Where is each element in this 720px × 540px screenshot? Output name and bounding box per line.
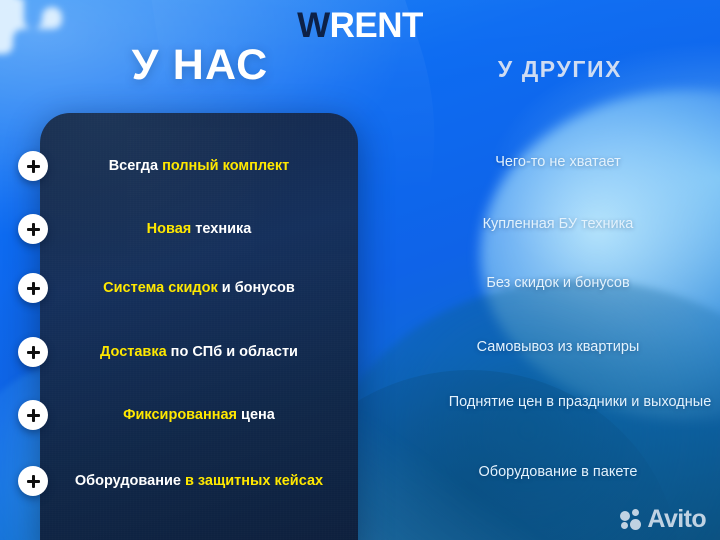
logo-letter-w: W xyxy=(297,6,330,45)
advantage-text: Новая техника xyxy=(68,220,330,239)
plus-icon[interactable] xyxy=(18,466,48,496)
heading-left: У НАС xyxy=(40,44,360,87)
list-item: Оборудование в защитных кейсах xyxy=(40,454,358,508)
competitor-list: Чего-то не хватает Купленная БУ техника … xyxy=(396,113,720,540)
advantage-plain-after: цена xyxy=(237,407,275,423)
avito-wordmark: Avito xyxy=(647,507,706,532)
plus-icon[interactable] xyxy=(18,400,48,430)
list-item: Чего-то не хватает xyxy=(396,153,720,172)
list-item: Без скидок и бонусов xyxy=(396,274,720,293)
list-item: Купленная БУ техника xyxy=(396,215,720,234)
advantage-plain-after: и бонусов xyxy=(218,280,295,296)
logo-text-rent: RENT xyxy=(330,6,423,45)
advantage-highlight: в защитных кейсах xyxy=(185,473,323,489)
list-item: Доставка по СПб и области xyxy=(40,335,358,369)
avito-watermark: Avito xyxy=(620,507,706,532)
advantage-plain-before: Оборудование xyxy=(75,473,185,489)
list-item: Поднятие цен в праздники и выходные xyxy=(396,393,720,412)
advantage-highlight: Доставка xyxy=(100,344,167,360)
advantage-plain-before: Всегда xyxy=(109,158,162,174)
brand-logo: WRENT xyxy=(0,8,720,43)
plus-icon[interactable] xyxy=(18,337,48,367)
advantages-list: Всегда полный комплект Новая техника Сис… xyxy=(40,113,358,540)
heading-right: У ДРУГИХ xyxy=(400,58,720,81)
list-item: Всегда полный комплект xyxy=(40,149,358,183)
list-item: Фиксированная цена xyxy=(40,398,358,432)
advantage-text: Всегда полный комплект xyxy=(68,157,330,176)
avito-dots-icon xyxy=(620,509,642,531)
advantage-highlight: Фиксированная xyxy=(123,407,237,423)
plus-icon[interactable] xyxy=(18,273,48,303)
plus-icon[interactable] xyxy=(18,214,48,244)
list-item: Самовывоз из квартиры xyxy=(396,338,720,357)
promo-banner: WRENT У НАС У ДРУГИХ Всегда полный компл… xyxy=(0,0,720,540)
advantage-text: Оборудование в защитных кейсах xyxy=(68,472,330,491)
advantage-highlight: Система скидок xyxy=(103,280,218,296)
advantage-highlight: Новая xyxy=(147,221,192,237)
list-item: Система скидок и бонусов xyxy=(40,271,358,305)
advantage-plain-after: техника xyxy=(191,221,251,237)
advantage-text: Фиксированная цена xyxy=(68,406,330,425)
advantage-text: Система скидок и бонусов xyxy=(68,279,330,298)
advantage-text: Доставка по СПб и области xyxy=(68,343,330,362)
list-item: Оборудование в пакете xyxy=(396,463,720,482)
advantage-plain-after: по СПб и области xyxy=(167,344,298,360)
advantage-highlight: полный комплект xyxy=(162,158,289,174)
plus-icon[interactable] xyxy=(18,151,48,181)
list-item: Новая техника xyxy=(40,212,358,246)
